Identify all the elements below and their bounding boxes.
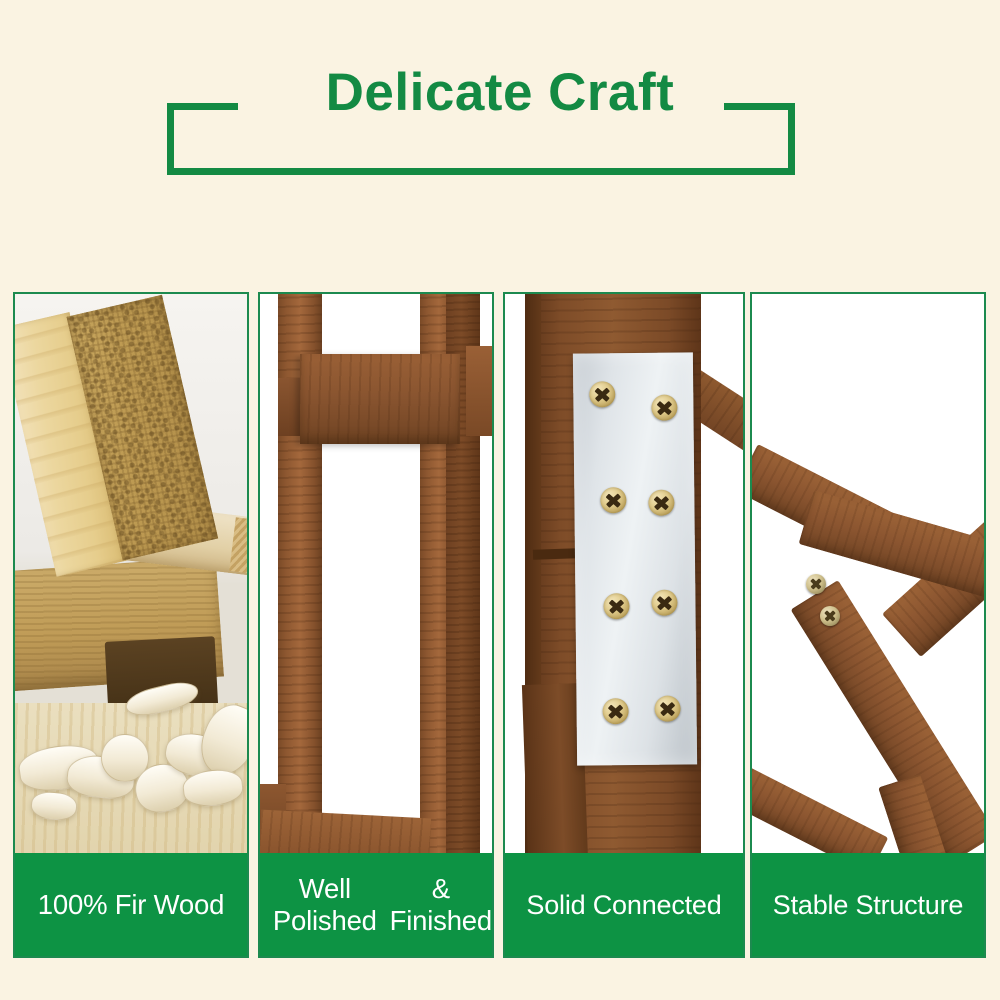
- panel-3-caption: Solid Connected: [505, 853, 743, 956]
- screw-icon: [600, 487, 626, 513]
- post-seam: [533, 548, 577, 560]
- stick-end-grain: [229, 517, 247, 576]
- panel-2-caption-line2: & Finished: [390, 873, 492, 937]
- header-banner: Delicate Craft: [0, 0, 1000, 280]
- feature-panel-row: 100% Fir Wood Well Polished& Finished: [0, 292, 1000, 962]
- screw-icon: [651, 395, 677, 421]
- screw-icon: [648, 490, 674, 516]
- screw-icon: [602, 698, 628, 724]
- feature-panel-stable-structure[interactable]: Stable Structure: [750, 292, 986, 958]
- screw-icon: [820, 606, 840, 626]
- screw-icon: [603, 593, 629, 619]
- panel-1-photo: [15, 294, 247, 853]
- wood-crossbar-icon: [300, 354, 460, 444]
- page-title: Delicate Craft: [0, 62, 1000, 124]
- screw-icon: [806, 574, 826, 594]
- panel-2-caption: Well Polished& Finished: [260, 853, 492, 956]
- feature-panel-fir-wood[interactable]: 100% Fir Wood: [13, 292, 249, 958]
- screw-icon: [654, 696, 680, 722]
- screw-icon: [589, 381, 615, 407]
- metal-bracket-icon: [573, 352, 697, 765]
- crossbar-stub: [466, 346, 492, 436]
- screw-icon: [651, 590, 677, 616]
- post-joint-stub: [278, 378, 300, 436]
- panel-3-photo: [505, 294, 743, 853]
- panel-4-caption: Stable Structure: [752, 853, 984, 956]
- panel-4-photo: [752, 294, 984, 853]
- panel-2-photo: [260, 294, 492, 853]
- feature-panel-solid-connected[interactable]: Solid Connected: [503, 292, 745, 958]
- feature-panel-well-polished[interactable]: Well Polished& Finished: [258, 292, 494, 958]
- panel-1-caption: 100% Fir Wood: [15, 853, 247, 956]
- panel-2-caption-line1: Well Polished: [260, 873, 390, 937]
